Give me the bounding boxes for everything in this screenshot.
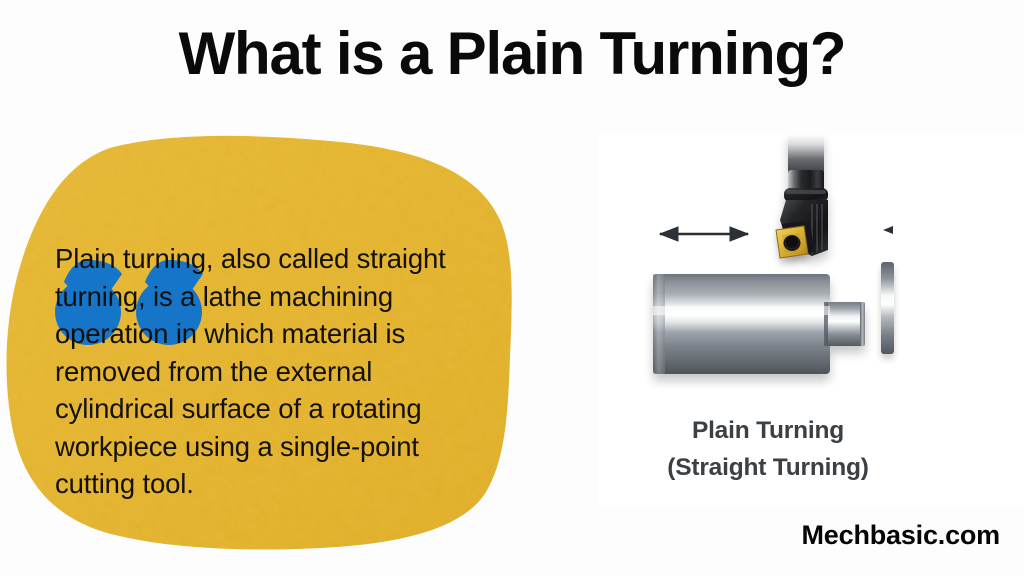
carbide-insert-icon: [776, 226, 808, 258]
slide-root: What is a Plain Turning?: [0, 0, 1024, 576]
small-arrowhead-icon: [883, 226, 893, 234]
caption-line-secondary: (Straight Turning): [598, 449, 938, 486]
plain-turning-diagram: [598, 134, 1024, 394]
quote-card: Plain turning, also called straight turn…: [0, 120, 560, 560]
workpiece-cylinder-icon: [653, 274, 865, 374]
caption-line-primary: Plain Turning: [598, 412, 938, 449]
site-watermark: Mechbasic.com: [0, 518, 1000, 552]
quote-body-text: Plain turning, also called straight turn…: [55, 240, 495, 503]
double-headed-arrow-icon: [660, 227, 748, 241]
cropped-disc-edge-icon: [881, 262, 894, 354]
illustration-caption: Plain Turning (Straight Turning): [598, 412, 938, 486]
page-title: What is a Plain Turning?: [0, 18, 1024, 90]
